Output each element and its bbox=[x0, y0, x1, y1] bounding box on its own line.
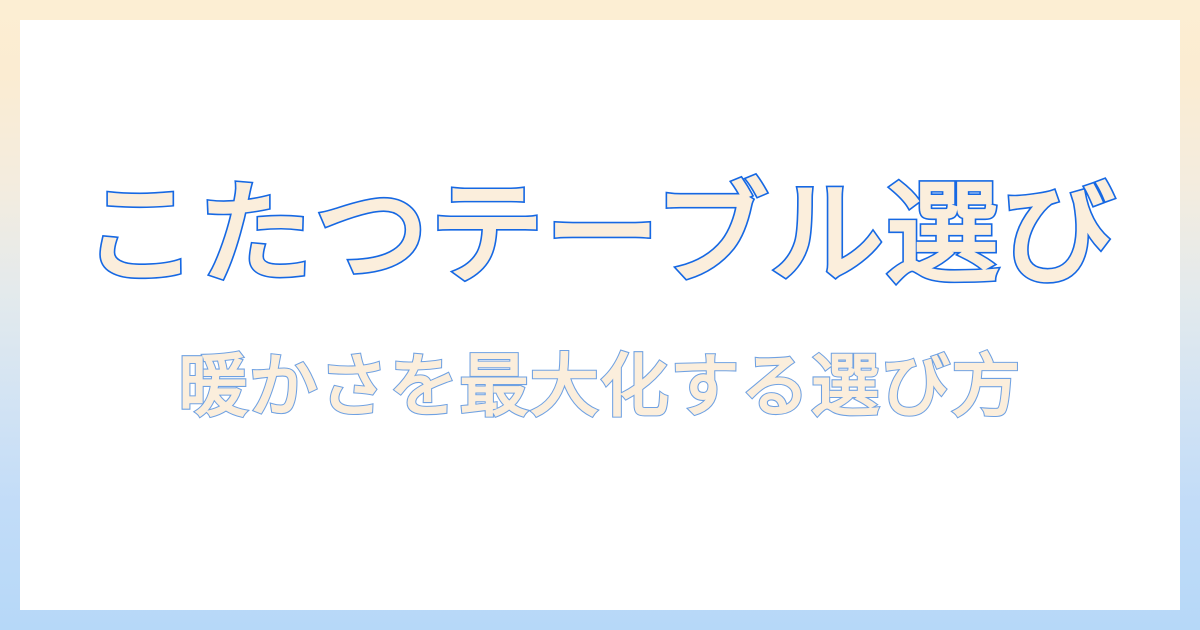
title-container: こたつテーブル選び bbox=[20, 169, 1180, 301]
thumbnail-canvas: こたつテーブル選び 暖かさを最大化する選び方 bbox=[0, 0, 1200, 630]
page-title: こたつテーブル選び bbox=[83, 169, 1117, 301]
subtitle-container: 暖かさを最大化する選び方 bbox=[20, 347, 1180, 426]
inner-card: こたつテーブル選び 暖かさを最大化する選び方 bbox=[20, 20, 1180, 610]
text-stack: こたつテーブル選び 暖かさを最大化する選び方 bbox=[20, 20, 1180, 610]
page-subtitle: 暖かさを最大化する選び方 bbox=[179, 347, 1022, 426]
